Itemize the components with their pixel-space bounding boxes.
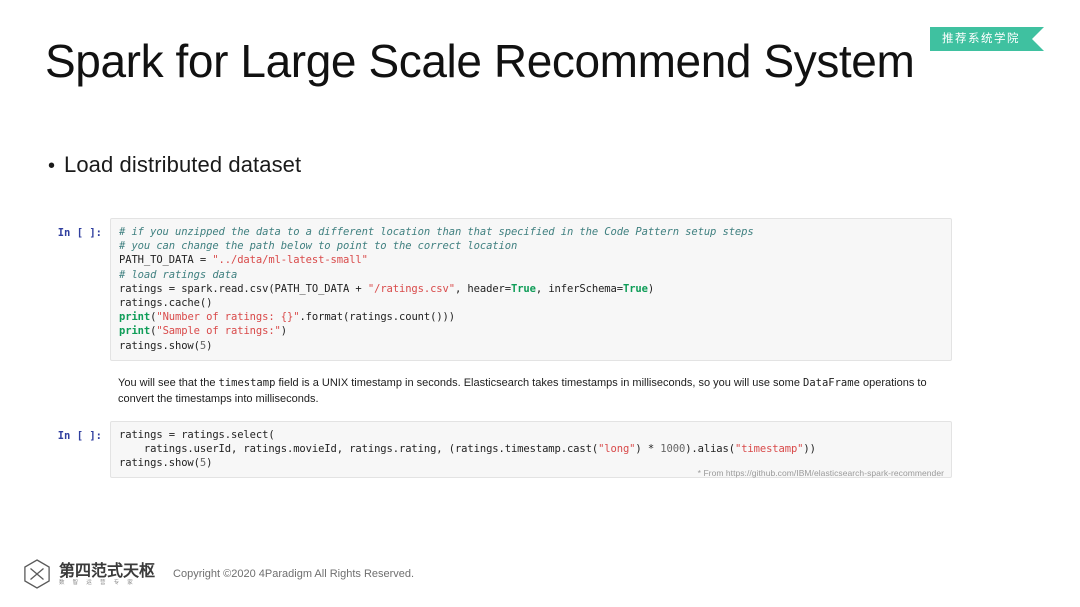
hexagon-x-logo-icon [20, 557, 54, 591]
code-comment: # if you unzipped the data to a differen… [119, 226, 754, 238]
logo-wordmark: 第四范式天枢 数 智 运 营 专 家 [59, 562, 155, 587]
course-badge-label: 推荐系统学院 [942, 33, 1020, 45]
footer: 第四范式天枢 数 智 运 营 专 家 Copyright ©2020 4Para… [20, 557, 414, 591]
cell-2-prompt: In [ ]: [52, 421, 110, 442]
md-inline-code-timestamp: timestamp [219, 377, 276, 389]
notebook-cell-1: In [ ]: # if you unzipped the data to a … [52, 218, 952, 361]
page-title: Spark for Large Scale Recommend System [45, 34, 914, 88]
bullet-item: • Load distributed dataset [48, 152, 301, 178]
code-line: ratings = spark.read.csv(PATH_TO_DATA + … [119, 283, 654, 295]
code-line: ratings.userId, ratings.movieId, ratings… [119, 443, 816, 455]
code-line: print("Number of ratings: {}".format(rat… [119, 311, 455, 323]
logo-subtitle: 数 智 运 营 专 家 [59, 579, 155, 587]
bullet-dot-icon: • [48, 156, 64, 176]
code-line: ratings.show(5) [119, 340, 212, 352]
code-comment: # you can change the path below to point… [119, 240, 517, 252]
cell-1-prompt: In [ ]: [52, 218, 110, 239]
cell-2-source: ratings = ratings.select( ratings.userId… [119, 428, 943, 471]
source-attribution: * From https://github.com/IBM/elasticsea… [698, 468, 944, 478]
code-line: PATH_TO_DATA = "../data/ml-latest-small" [119, 254, 368, 266]
code-line: ratings.show(5) [119, 457, 212, 469]
md-text-part-2: field is a UNIX timestamp in seconds. El… [275, 377, 803, 389]
logo-name: 第四范式天枢 [59, 562, 155, 579]
course-badge-notch [1032, 27, 1044, 51]
code-line: ratings = ratings.select( [119, 429, 275, 441]
md-inline-code-dataframe: DataFrame [803, 377, 860, 389]
cell-1-source: # if you unzipped the data to a differen… [119, 225, 943, 353]
bullet-item-label: Load distributed dataset [64, 152, 301, 178]
course-badge: 推荐系统学院 [930, 27, 1036, 51]
copyright-text: Copyright ©2020 4Paradigm All Rights Res… [173, 568, 414, 580]
cell-1-input-area[interactable]: # if you unzipped the data to a differen… [110, 218, 952, 361]
md-text-part-1: You will see that the [118, 377, 219, 389]
notebook-markdown-paragraph: You will see that the timestamp field is… [110, 375, 952, 407]
notebook-screenshot: In [ ]: # if you unzipped the data to a … [52, 218, 952, 478]
code-comment: # load ratings data [119, 269, 237, 281]
code-line: print("Sample of ratings:") [119, 325, 287, 337]
code-line: ratings.cache() [119, 297, 212, 309]
